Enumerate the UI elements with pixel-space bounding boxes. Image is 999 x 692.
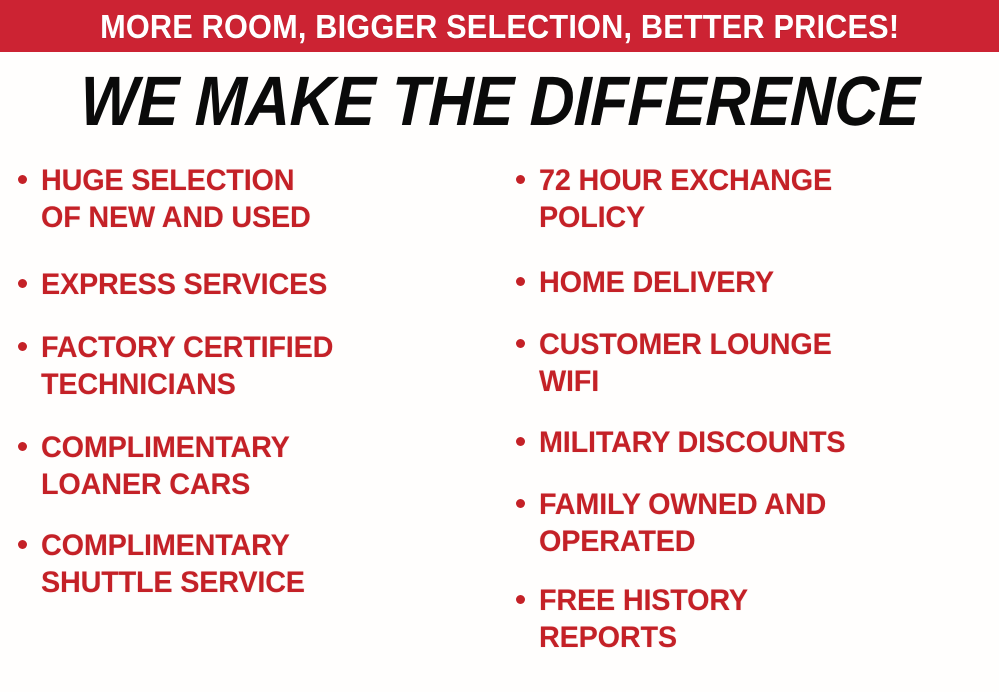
headline-container: WE MAKE THE DIFFERENCE [0, 58, 999, 144]
list-item: COMPLIMENTARY LOANER CARS [18, 429, 500, 503]
list-item: FREE HISTORY REPORTS [516, 582, 999, 656]
bullet-dot-icon [516, 175, 525, 184]
benefits-column-right: 72 HOUR EXCHANGE POLICY HOME DELIVERY CU… [500, 152, 999, 692]
list-item-label: 72 HOUR EXCHANGE POLICY [539, 162, 832, 236]
list-item: FAMILY OWNED AND OPERATED [516, 486, 999, 560]
bullet-dot-icon [18, 279, 27, 288]
list-item-label: FREE HISTORY REPORTS [539, 582, 748, 656]
list-item-label: FACTORY CERTIFIED TECHNICIANS [41, 329, 333, 403]
bullet-dot-icon [516, 499, 525, 508]
list-item: MILITARY DISCOUNTS [516, 424, 999, 461]
list-item: HOME DELIVERY [516, 264, 999, 301]
bullet-dot-icon [18, 342, 27, 351]
benefits-column-left: HUGE SELECTION OF NEW AND USED EXPRESS S… [0, 152, 500, 692]
bullet-dot-icon [18, 175, 27, 184]
bullet-dot-icon [516, 339, 525, 348]
list-item: HUGE SELECTION OF NEW AND USED [18, 162, 500, 236]
list-item: FACTORY CERTIFIED TECHNICIANS [18, 329, 500, 403]
advertisement-banner: MORE ROOM, BIGGER SELECTION, BETTER PRIC… [0, 0, 999, 692]
bullet-dot-icon [516, 437, 525, 446]
list-item: 72 HOUR EXCHANGE POLICY [516, 162, 999, 236]
page-title: WE MAKE THE DIFFERENCE [79, 65, 920, 137]
list-item-label: EXPRESS SERVICES [41, 266, 327, 303]
list-item: COMPLIMENTARY SHUTTLE SERVICE [18, 527, 500, 601]
bullet-dot-icon [516, 595, 525, 604]
list-item: CUSTOMER LOUNGE WIFI [516, 326, 999, 400]
list-item: EXPRESS SERVICES [18, 266, 500, 303]
list-item-label: COMPLIMENTARY SHUTTLE SERVICE [41, 527, 305, 601]
list-item-label: COMPLIMENTARY LOANER CARS [41, 429, 290, 503]
bullet-dot-icon [18, 442, 27, 451]
list-item-label: FAMILY OWNED AND OPERATED [539, 486, 826, 560]
list-item-label: HUGE SELECTION OF NEW AND USED [41, 162, 311, 236]
bullet-dot-icon [516, 277, 525, 286]
list-item-label: CUSTOMER LOUNGE WIFI [539, 326, 832, 400]
list-item-label: MILITARY DISCOUNTS [539, 424, 845, 461]
promo-banner: MORE ROOM, BIGGER SELECTION, BETTER PRIC… [0, 0, 999, 52]
promo-banner-text: MORE ROOM, BIGGER SELECTION, BETTER PRIC… [100, 10, 899, 43]
benefits-columns: HUGE SELECTION OF NEW AND USED EXPRESS S… [0, 152, 999, 692]
bullet-dot-icon [18, 540, 27, 549]
list-item-label: HOME DELIVERY [539, 264, 774, 301]
